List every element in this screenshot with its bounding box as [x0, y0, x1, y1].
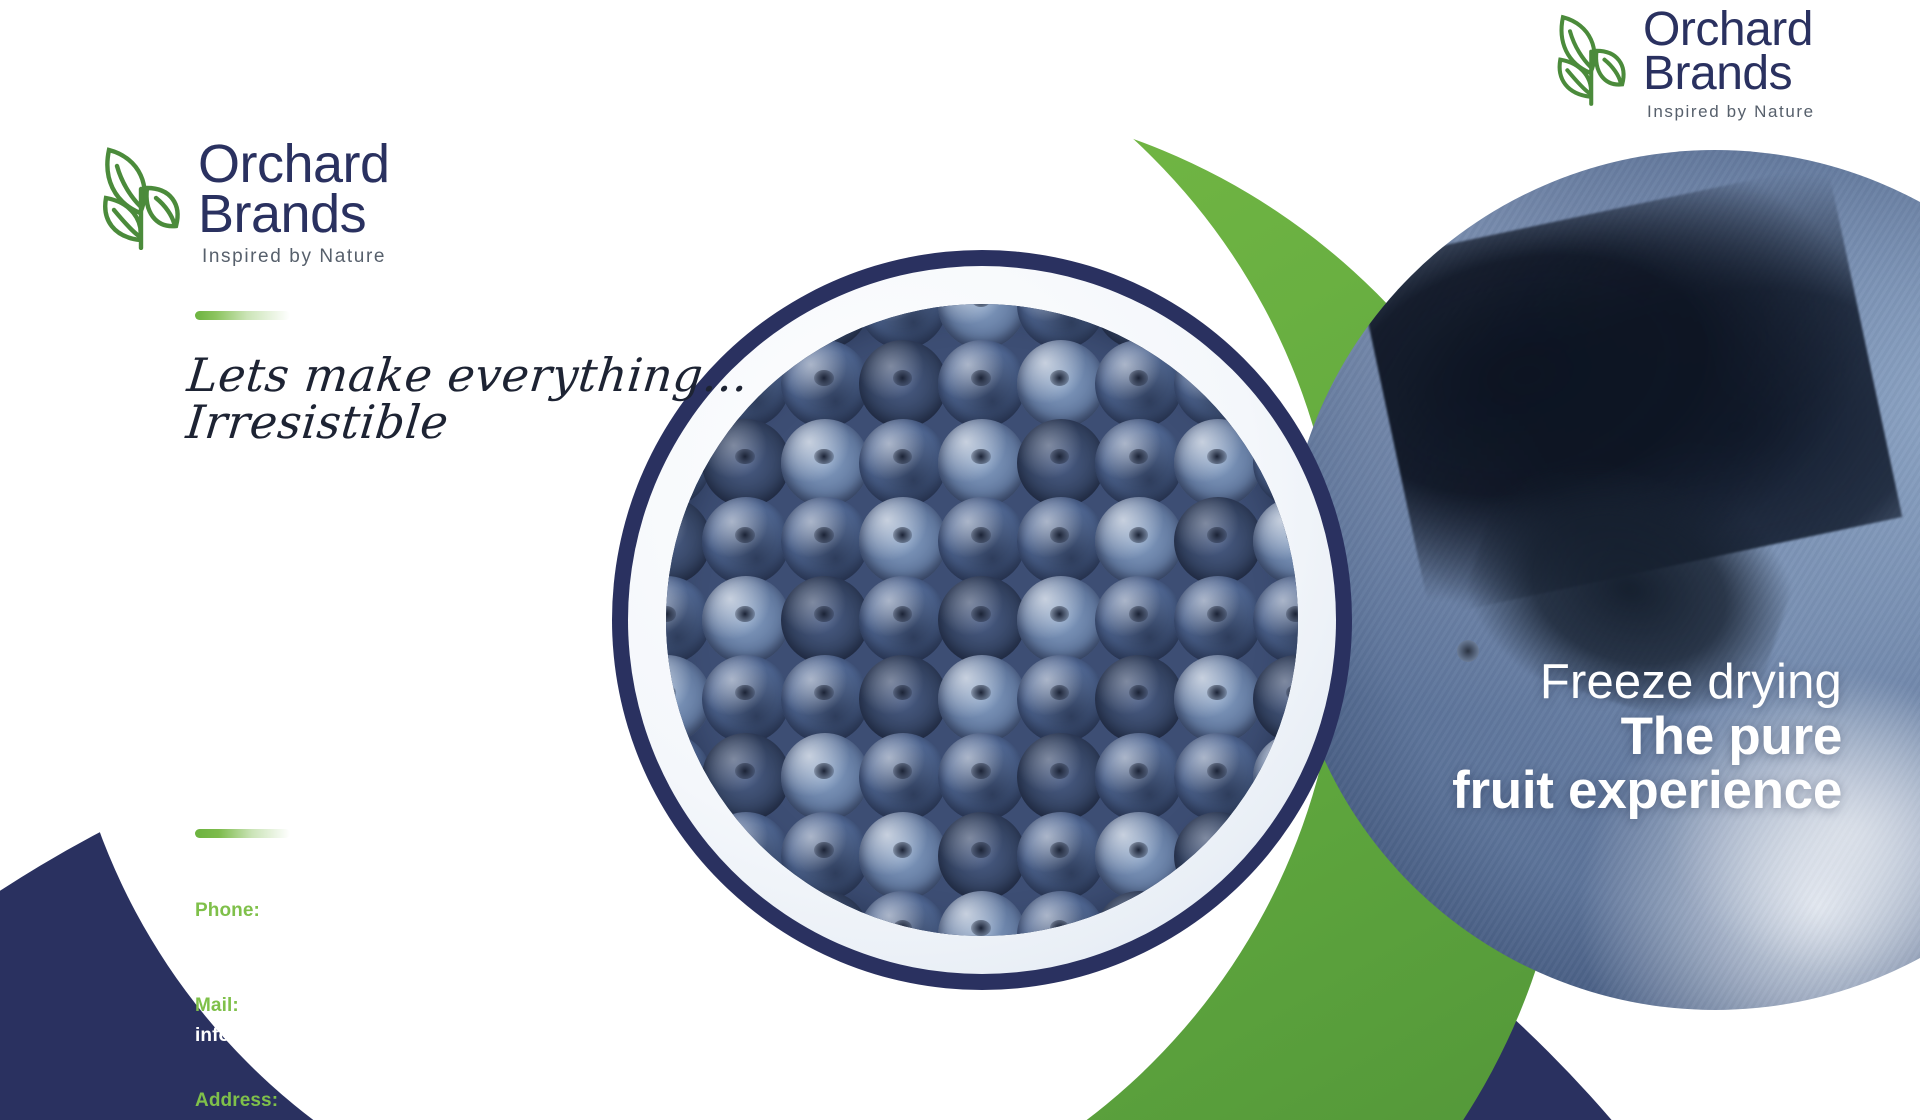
contact-label-phone: Phone: — [195, 900, 755, 922]
contact-value-email[interactable]: info@orchardbrands.in — [195, 1023, 755, 1050]
script-tagline-line-2: Irresistible — [184, 399, 805, 446]
headline-block: Freeze drying The pure fruit experience — [1452, 655, 1842, 818]
logo-line-2: Brands — [198, 190, 390, 240]
brochure-canvas: Orchard Brands Inspired by Nature Orchar… — [0, 0, 1920, 1120]
contact-value-phone[interactable]: (+91) 22 26850069/70 — [195, 928, 755, 955]
script-tagline: Lets make everything... Irresistible — [180, 352, 810, 446]
contact-group-address: Address: Orchard Brands Pvt. Ltd. 29, Ud… — [195, 1090, 755, 1120]
logo-tagline: Inspired by Nature — [202, 248, 390, 265]
contact-group-phone: Phone: (+91) 22 26850069/70 — [195, 900, 755, 955]
contact-label-address: Address: — [195, 1090, 755, 1112]
headline-line-3: fruit experience — [1452, 764, 1842, 818]
logo-line-1: Orchard — [198, 140, 390, 190]
logo-secondary[interactable]: Orchard Brands Inspired by Nature — [1555, 8, 1815, 120]
leaf-icon — [1555, 8, 1631, 111]
logo-wordmark: Orchard Brands Inspired by Nature — [198, 140, 390, 266]
headline-line-1: Freeze drying — [1452, 655, 1842, 710]
leaf-icon — [100, 140, 186, 255]
contact-group-mail: Mail: info@orchardbrands.in — [195, 995, 755, 1050]
accent-rule-bottom — [195, 829, 290, 838]
headline-line-2: The pure — [1452, 710, 1842, 764]
logo-line-1: Orchard — [1643, 8, 1815, 52]
logo-tagline: Inspired by Nature — [1647, 104, 1815, 120]
logo-wordmark: Orchard Brands Inspired by Nature — [1643, 8, 1815, 120]
contact-block: Phone: (+91) 22 26850069/70 Mail: info@o… — [195, 900, 755, 1120]
accent-rule-top — [195, 311, 290, 320]
script-tagline-line-1: Lets make everything... — [185, 348, 752, 402]
logo-line-2: Brands — [1643, 52, 1815, 96]
contact-label-mail: Mail: — [195, 995, 755, 1017]
logo-primary[interactable]: Orchard Brands Inspired by Nature — [100, 140, 390, 266]
